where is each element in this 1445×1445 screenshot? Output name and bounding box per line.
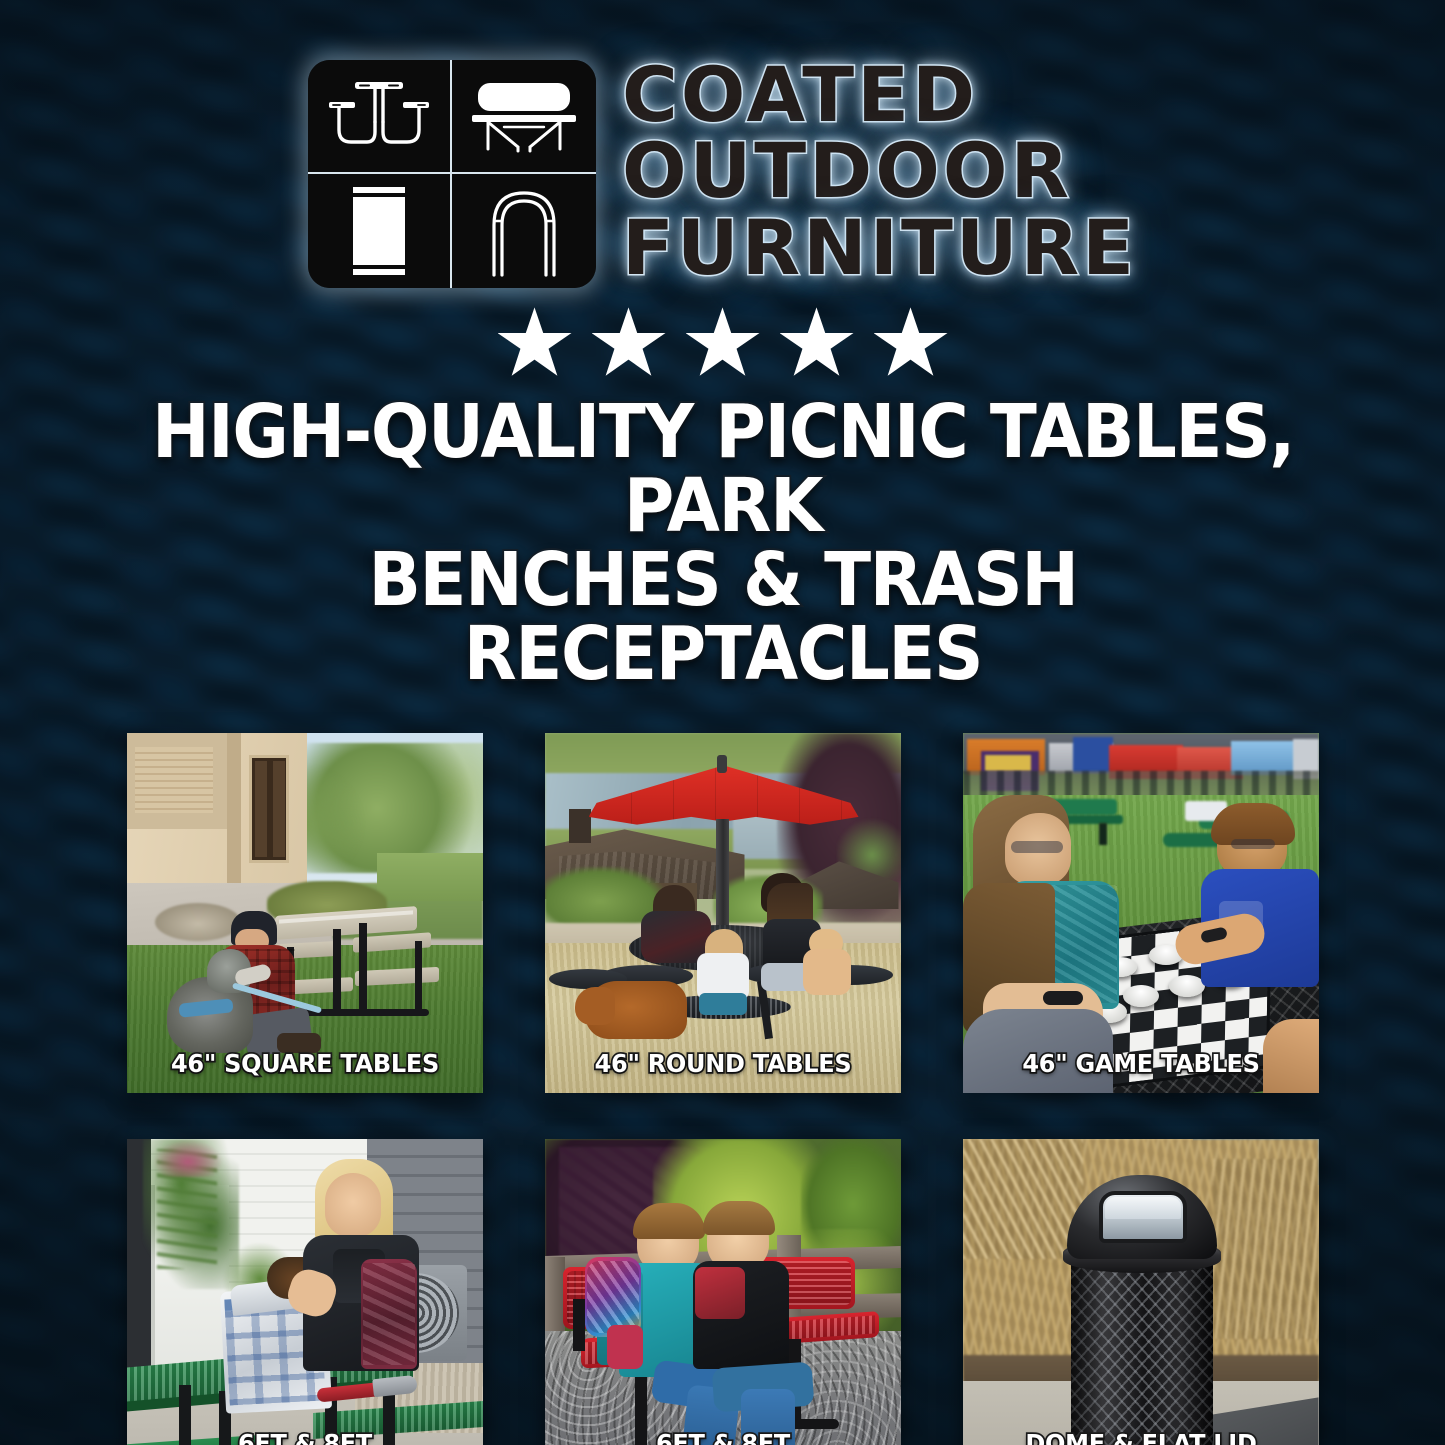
product-card-square-tables[interactable]: 46" SQUARE TABLES — [127, 733, 483, 1093]
product-caption: DOME & FLAT LID TRASH RECEPTACLES — [970, 1431, 1312, 1445]
product-photo-trash-receptacles — [963, 1139, 1319, 1445]
caption-line-1: 46" ROUND TABLES — [552, 1051, 894, 1077]
star-rating — [498, 307, 948, 379]
star-icon — [498, 307, 572, 379]
caption-line-1: 46" GAME TABLES — [970, 1051, 1312, 1077]
brand-wordmark: COATED OUTDOOR FURNITURE — [622, 58, 1137, 289]
company-logo — [308, 60, 596, 288]
product-photo-round-tables — [545, 733, 901, 1093]
caption-line-1: 6FT & 8FT — [552, 1431, 894, 1445]
star-icon — [780, 307, 854, 379]
product-grid: 46" SQUARE TABLES — [127, 733, 1319, 1445]
wordmark-line-3: FURNITURE — [622, 211, 1137, 285]
caption-line-1: DOME & FLAT LID — [970, 1431, 1312, 1445]
bike-rack-arch-icon — [452, 174, 596, 288]
trash-receptacle-icon — [308, 174, 452, 288]
star-icon — [874, 307, 948, 379]
product-caption: 46" ROUND TABLES — [552, 1051, 894, 1077]
product-card-round-tables[interactable]: 46" ROUND TABLES — [545, 733, 901, 1093]
product-card-game-tables[interactable]: 46" GAME TABLES — [963, 733, 1319, 1093]
wordmark-line-1: COATED — [622, 58, 1137, 132]
product-photo-benches — [545, 1139, 901, 1445]
product-photo-square-tables — [127, 733, 483, 1093]
product-photo-game-tables — [963, 733, 1319, 1093]
product-card-benches[interactable]: 6FT & 8FT BENCHES — [545, 1139, 901, 1445]
headline-line-1: HIGH-QUALITY PICNIC TABLES, PARK — [123, 395, 1323, 543]
bench-icon — [452, 60, 596, 174]
promo-poster: COATED OUTDOOR FURNITURE HIGH-QUALITY PI… — [0, 0, 1445, 1445]
product-caption: 6FT & 8FT BENCHES — [552, 1431, 894, 1445]
product-card-trash-receptacles[interactable]: DOME & FLAT LID TRASH RECEPTACLES — [963, 1139, 1319, 1445]
product-caption: 46" GAME TABLES — [970, 1051, 1312, 1077]
caption-line-1: 46" SQUARE TABLES — [134, 1051, 476, 1077]
product-photo-rectangular-tables — [127, 1139, 483, 1445]
picnic-table-icon — [308, 60, 452, 174]
headline-line-2: BENCHES & TRASH RECEPTACLES — [123, 543, 1323, 691]
caption-line-1: 6FT & 8FT — [134, 1431, 476, 1445]
star-icon — [592, 307, 666, 379]
brand-header: COATED OUTDOOR FURNITURE — [308, 58, 1137, 289]
product-caption: 46" SQUARE TABLES — [134, 1051, 476, 1077]
star-icon — [686, 307, 760, 379]
product-card-rectangular-tables[interactable]: 6FT & 8FT RECTANGULAR TABLES — [127, 1139, 483, 1445]
product-caption: 6FT & 8FT RECTANGULAR TABLES — [134, 1431, 476, 1445]
wordmark-line-2: OUTDOOR — [622, 134, 1137, 208]
page-title: HIGH-QUALITY PICNIC TABLES, PARK BENCHES… — [123, 395, 1323, 691]
